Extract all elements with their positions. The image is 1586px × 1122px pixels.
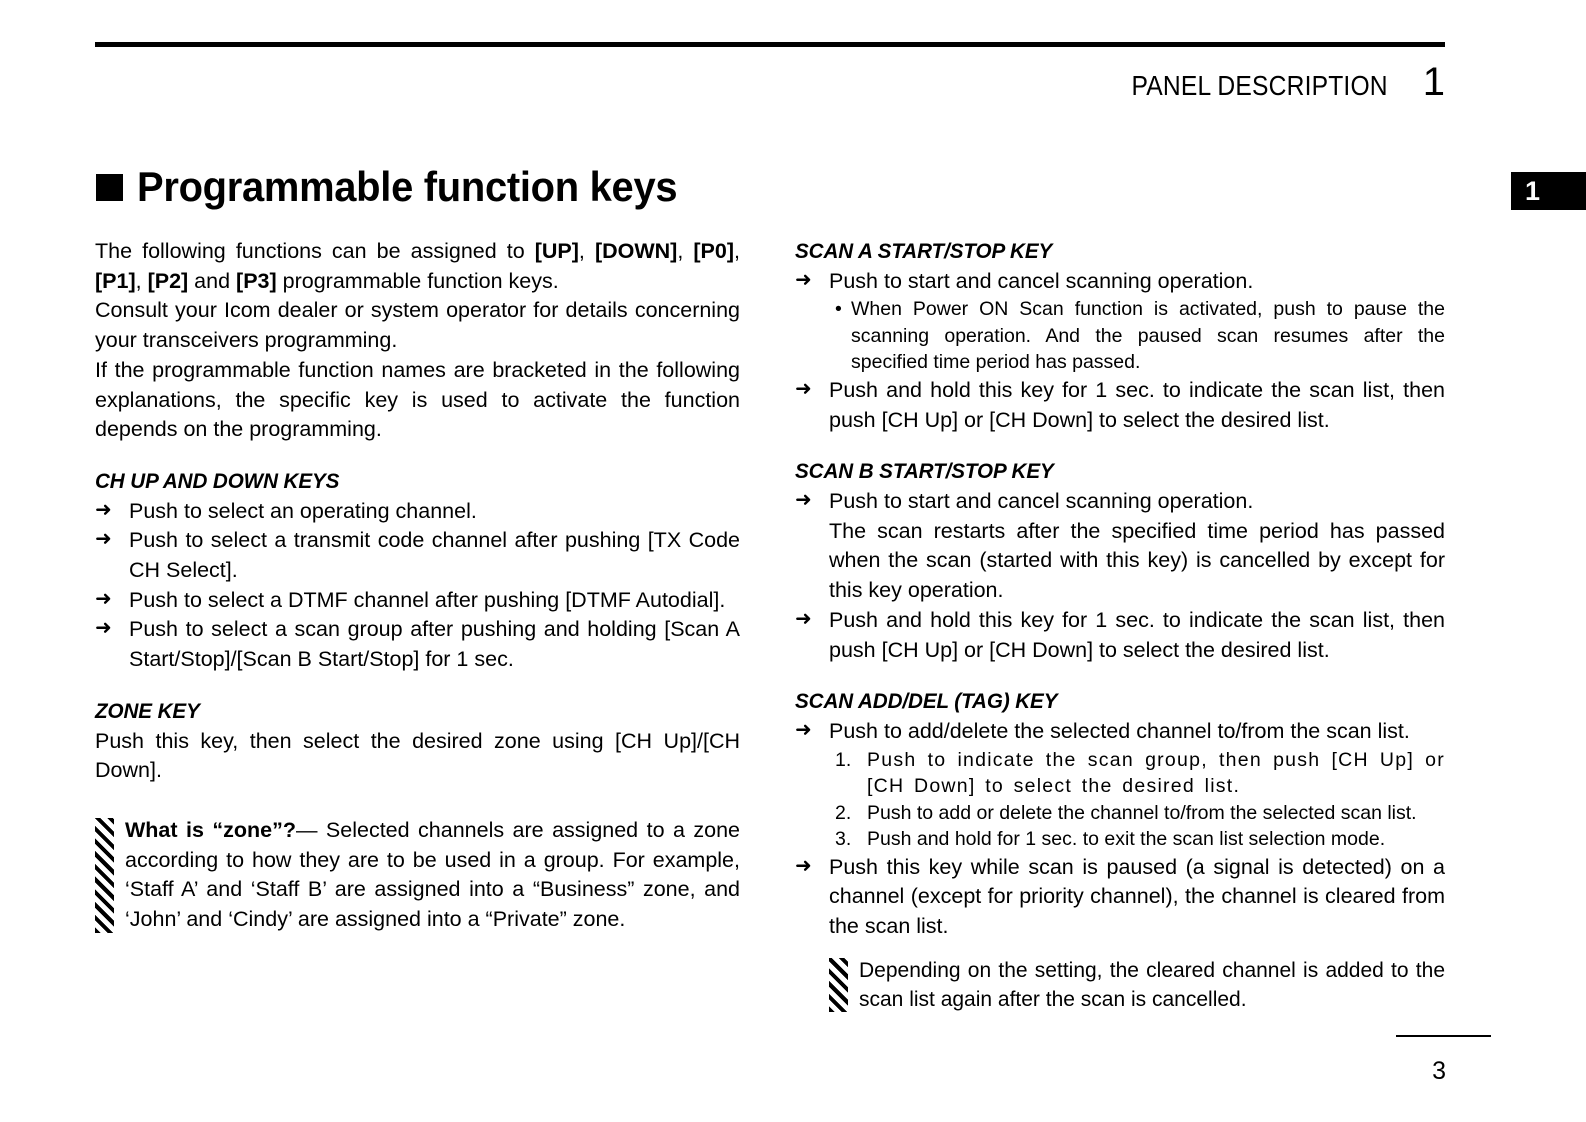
list-item: ➜ Push to add/delete the selected channe… [795, 717, 1445, 747]
list-item-text: Push to start and cancel scanning operat… [829, 267, 1445, 297]
section-heading-scan-a: SCAN A START/STOP KEY [795, 237, 1419, 267]
list-item: ➜ Push to select a DTMF channel after pu… [95, 586, 740, 616]
list-item: ➜ Push to select a scan group after push… [95, 615, 740, 674]
intro-paragraph-2: Consult your Icom dealer or system opera… [95, 296, 740, 355]
numbered-list-item-text: Push to indicate the scan group, then pu… [867, 749, 1445, 798]
dot-bullet-icon: • [835, 296, 842, 323]
note-lead: What is “zone”? [125, 818, 296, 842]
list-item: ➜ Push to start and cancel scanning oper… [795, 487, 1445, 517]
square-bullet-icon [96, 174, 123, 201]
numbered-list-item: 2. Push to add or delete the channel to/… [795, 800, 1445, 827]
document-page: PANEL DESCRIPTION 1 1 Programmable funct… [0, 0, 1586, 1122]
running-header-chapter-number: 1 [1423, 62, 1445, 102]
list-item: ➜ Push this key while scan is paused (a … [795, 853, 1445, 942]
note-box-scan-tag: Depending on the setting, the cleared ch… [829, 956, 1445, 1014]
intro-text: The following functions can be assigned … [95, 239, 535, 263]
list-item: ➜ Push to select an operating channel. [95, 497, 740, 527]
sep: , [734, 239, 740, 263]
sep: , [579, 239, 595, 263]
key-up: [UP] [535, 239, 579, 263]
arrow-bullet-icon: ➜ [795, 852, 812, 882]
page-title: Programmable function keys [96, 163, 706, 211]
page-number: 3 [1432, 1059, 1446, 1084]
list-item: ➜ Push and hold this key for 1 sec. to i… [795, 606, 1445, 665]
header-rule [95, 42, 1445, 47]
list-number: 2. [835, 800, 851, 827]
arrow-bullet-icon: ➜ [795, 266, 812, 296]
list-number: 3. [835, 826, 851, 853]
list-item-text: Push and hold this key for 1 sec. to ind… [829, 376, 1445, 435]
section-heading-scan-b: SCAN B START/STOP KEY [795, 457, 1419, 487]
numbered-list-item-text: Push and hold for 1 sec. to exit the sca… [867, 828, 1385, 850]
list-item-text: Push to select an operating channel. [129, 497, 740, 527]
key-p3: [P3] [236, 269, 277, 293]
arrow-bullet-icon: ➜ [95, 496, 112, 526]
key-down: [DOWN] [595, 239, 677, 263]
list-item: ➜ Push to start and cancel scanning oper… [795, 267, 1445, 297]
numbered-list-item-text: Push to add or delete the channel to/fro… [867, 802, 1417, 824]
arrow-bullet-icon: ➜ [95, 525, 112, 555]
spacer [795, 665, 1445, 687]
note-text: What is “zone”?— Selected channels are a… [125, 816, 740, 935]
list-item-text: Push to select a scan group after pushin… [129, 615, 740, 674]
hatch-bar-icon [95, 818, 114, 933]
arrow-bullet-icon: ➜ [795, 486, 812, 516]
footer-rule [1396, 1035, 1491, 1037]
list-number: 1. [835, 747, 851, 774]
arrow-bullet-icon: ➜ [795, 375, 812, 405]
key-p1: [P1] [95, 269, 136, 293]
list-item-text: Push and hold this key for 1 sec. to ind… [829, 606, 1445, 665]
key-p2: [P2] [148, 269, 189, 293]
conj: and [188, 269, 236, 293]
intro-paragraph-3: If the programmable function names are b… [95, 356, 740, 445]
sep: , [677, 239, 693, 263]
chapter-tab-number: 1 [1525, 176, 1540, 207]
numbered-list-item: 1. Push to indicate the scan group, then… [795, 747, 1445, 800]
sub-list-item-text: When Power ON Scan function is activated… [851, 298, 1445, 373]
section-heading-ch-up-down: CH UP AND DOWN KEYS [95, 467, 714, 497]
arrow-bullet-icon: ➜ [795, 605, 812, 635]
list-item: ➜ Push and hold this key for 1 sec. to i… [795, 376, 1445, 435]
list-item-text: Push to start and cancel scanning operat… [829, 487, 1445, 517]
intro-text-tail: programmable function keys. [277, 269, 559, 293]
spacer [795, 435, 1445, 457]
intro-paragraph-1: The following functions can be assigned … [95, 237, 740, 296]
numbered-list-item: 3. Push and hold for 1 sec. to exit the … [795, 826, 1445, 853]
arrow-bullet-icon: ➜ [795, 716, 812, 746]
page-title-text: Programmable function keys [137, 163, 677, 211]
list-item-continuation: The scan restarts after the specified ti… [795, 517, 1445, 606]
spacer [95, 445, 740, 467]
running-header-title: PANEL DESCRIPTION [1131, 70, 1387, 102]
note-box-zone: What is “zone”?— Selected channels are a… [95, 816, 740, 935]
hatch-bar-icon [829, 958, 848, 1012]
chapter-thumb-tab: 1 [1511, 172, 1586, 210]
arrow-bullet-icon: ➜ [95, 585, 112, 615]
list-item: ➜ Push to select a transmit code channel… [95, 526, 740, 585]
sep: , [136, 269, 148, 293]
key-p0: [P0] [693, 239, 734, 263]
section-heading-zone-key: ZONE KEY [95, 697, 714, 727]
arrow-bullet-icon: ➜ [95, 614, 112, 644]
spacer [95, 786, 740, 816]
section-heading-scan-add-del: SCAN ADD/DEL (TAG) KEY [795, 687, 1419, 717]
right-column: SCAN A START/STOP KEY ➜ Push to start an… [795, 237, 1445, 1014]
spacer [95, 675, 740, 697]
left-column: The following functions can be assigned … [95, 237, 740, 935]
note-text: Depending on the setting, the cleared ch… [859, 956, 1445, 1014]
zone-key-body: Push this key, then select the desired z… [95, 727, 740, 786]
list-item-text: Push to select a DTMF channel after push… [129, 586, 740, 616]
running-header: PANEL DESCRIPTION 1 [1114, 62, 1445, 102]
list-item-text: Push to add/delete the selected channel … [829, 717, 1445, 747]
list-item-text: Push to select a transmit code channel a… [129, 526, 740, 585]
sub-list-item: • When Power ON Scan function is activat… [795, 296, 1445, 376]
spacer [795, 942, 1445, 956]
list-item-text: Push this key while scan is paused (a si… [829, 853, 1445, 942]
